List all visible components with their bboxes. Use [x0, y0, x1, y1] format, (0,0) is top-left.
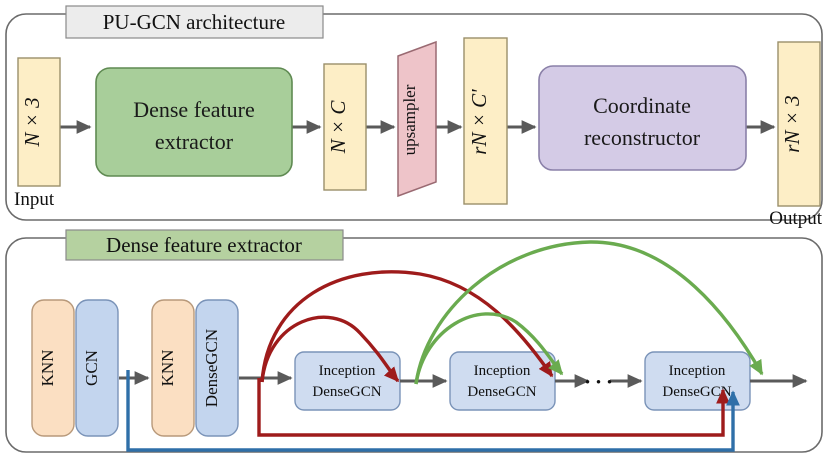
- tensor-after-extractor-label: N × C: [326, 100, 350, 155]
- upsampler-label: upsampler: [400, 84, 419, 155]
- input-label: Input: [14, 189, 55, 210]
- extractor-panel-title: Dense feature extractor: [66, 230, 343, 260]
- inception-3-line1: Inception: [669, 363, 726, 379]
- tensor-input-label: N × 3: [20, 97, 44, 147]
- inception-2-line1: Inception: [474, 363, 531, 379]
- pu-gcn-architecture-figure: PU-GCN architecture Dense feature extrac…: [0, 0, 828, 460]
- module-dense-feature-extractor: Dense feature extractor: [96, 68, 292, 176]
- block-knn-1-label: KNN: [38, 350, 57, 387]
- block-gcn-label: GCN: [82, 350, 101, 386]
- tensor-after-upsampler: rN × C': [464, 38, 507, 204]
- reconstructor-label-line1: Coordinate: [593, 93, 691, 118]
- extractor-label-line2: extractor: [155, 129, 234, 154]
- ellipsis-dots: • • •: [585, 375, 613, 391]
- module-coordinate-reconstructor: Coordinate reconstructor: [539, 66, 746, 170]
- output-label: Output: [769, 208, 823, 229]
- tensor-after-extractor: N × C: [324, 64, 366, 190]
- block-knn-2-label: KNN: [158, 350, 177, 387]
- extractor-title-text: Dense feature extractor: [106, 233, 302, 257]
- block-knn-1: KNN: [32, 300, 74, 436]
- tensor-after-upsampler-label: rN × C': [467, 89, 491, 155]
- block-densegcn: DenseGCN: [196, 300, 238, 436]
- extractor-label-line1: Dense feature: [133, 97, 255, 122]
- block-knn-2: KNN: [152, 300, 194, 436]
- tensor-output: rN × 3: [778, 42, 820, 206]
- inception-2-line2: DenseGCN: [467, 384, 536, 400]
- architecture-panel-title: PU-GCN architecture: [66, 6, 323, 38]
- tensor-input: N × 3: [18, 58, 60, 186]
- inception-1-line1: Inception: [319, 363, 376, 379]
- block-densegcn-label: DenseGCN: [202, 329, 221, 407]
- module-upsampler: upsampler: [398, 42, 436, 196]
- block-gcn: GCN: [76, 300, 118, 436]
- inception-1-line2: DenseGCN: [312, 384, 381, 400]
- reconstructor-label-line2: reconstructor: [584, 125, 701, 150]
- architecture-title-text: PU-GCN architecture: [103, 10, 286, 34]
- tensor-output-label: rN × 3: [780, 95, 804, 152]
